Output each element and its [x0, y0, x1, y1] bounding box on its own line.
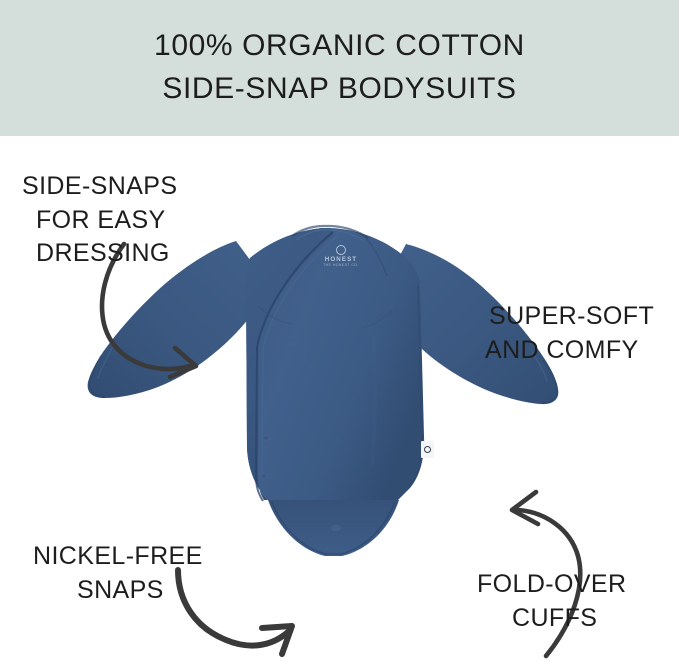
neck-tag-brand: HONEST	[325, 256, 357, 263]
callout-line: CUFFS	[512, 602, 626, 636]
callout-super-soft: SUPER-SOFT AND COMFY	[489, 300, 654, 367]
honest-mark-icon	[424, 446, 431, 453]
side-snap	[274, 386, 283, 392]
callout-line: NICKEL-FREE	[33, 540, 203, 574]
side-snap-inner	[262, 474, 267, 477]
neck-tag-sub: THE HONEST CO.	[323, 263, 359, 267]
side-snap	[288, 341, 296, 347]
callout-fold-over: FOLD-OVER CUFFS	[477, 568, 626, 635]
callout-line: SIDE-SNAPS	[22, 170, 177, 204]
honest-logo-icon	[336, 245, 346, 255]
side-hem-tag	[421, 441, 434, 458]
headline-line-1: 100% ORGANIC COTTON	[154, 25, 525, 68]
crotch-snap	[331, 525, 341, 531]
callout-line: FOLD-OVER	[477, 568, 626, 602]
callout-line: AND COMFY	[485, 334, 654, 368]
headline-line-2: SIDE-SNAP BODYSUITS	[162, 68, 516, 111]
callout-line: SUPER-SOFT	[489, 300, 654, 334]
callout-line: SNAPS	[77, 574, 203, 608]
header-banner: 100% ORGANIC COTTON SIDE-SNAP BODYSUITS	[0, 0, 679, 136]
callout-side-snaps: SIDE-SNAPS FOR EASY DRESSING	[22, 170, 177, 271]
callout-line: DRESSING	[36, 237, 177, 271]
callout-nickel-free: NICKEL-FREE SNAPS	[33, 540, 203, 607]
neck-brand-tag: HONEST THE HONEST CO.	[322, 243, 360, 269]
callout-line: FOR EASY	[36, 204, 177, 238]
side-snap-inner	[263, 436, 268, 439]
